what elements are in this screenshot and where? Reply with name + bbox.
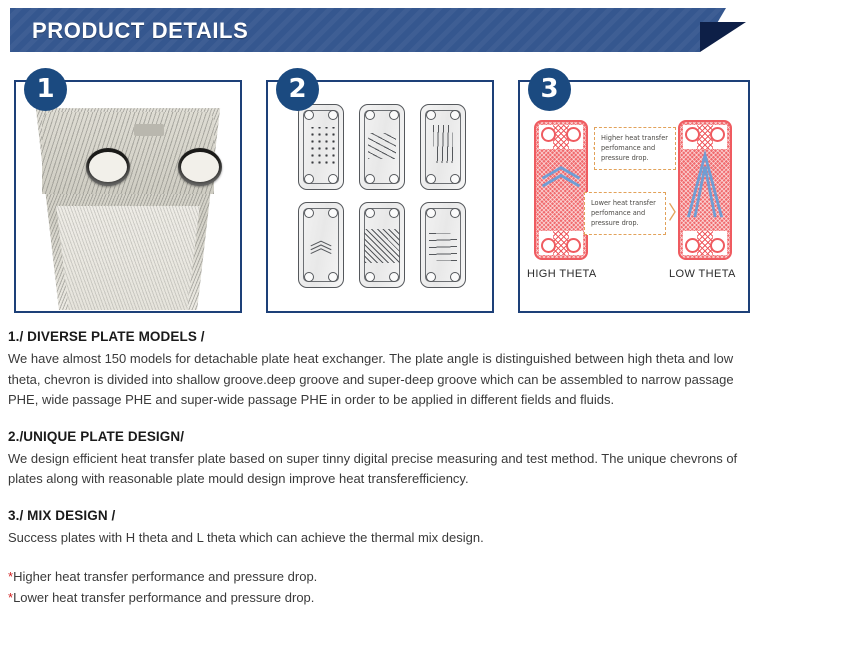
plate-port-right-inner — [181, 152, 219, 182]
page-title: PRODUCT DETAILS — [32, 18, 248, 44]
plate-port-tr — [328, 208, 338, 218]
plate-port-bl — [304, 174, 314, 184]
section-body-3: Success plates with H theta and L theta … — [8, 528, 750, 549]
plate-port-left-inner — [89, 152, 127, 182]
plate-port-tl — [365, 110, 375, 120]
plate-port-tl — [365, 208, 375, 218]
plate-port-tl — [426, 110, 436, 120]
shallow-chevron-icon — [536, 122, 586, 258]
plate-variant-band — [359, 202, 405, 288]
plate-port-left — [86, 148, 130, 186]
panel-badge-2: 2 — [276, 68, 319, 111]
low-theta-plate — [678, 120, 732, 260]
diagonal-groove-pattern — [368, 133, 396, 159]
footnote-text: Higher heat transfer performance and pre… — [13, 569, 317, 584]
panel-plate-photo: 1 — [14, 80, 242, 313]
plate-top-section — [42, 112, 214, 194]
plate-port-br — [328, 174, 338, 184]
label-low-theta: LOW THETA — [669, 268, 736, 280]
plate-notch — [134, 124, 164, 136]
footnote-1: *Higher heat transfer performance and pr… — [8, 566, 840, 587]
plate-port-br — [389, 174, 399, 184]
section-heading-3: 3./ MIX DESIGN / — [8, 508, 840, 523]
plate-pattern-area — [368, 133, 396, 159]
section-body-1: We have almost 150 models for detachable… — [8, 349, 750, 411]
callout-high-theta: Higher heat transfer perfomance and pres… — [594, 127, 676, 170]
plate-port-tr — [328, 110, 338, 120]
steep-chevron-icon — [680, 122, 730, 258]
heat-exchanger-plate-photo — [18, 94, 238, 310]
plate-variant-vertical — [420, 104, 466, 190]
plate-lower-section — [50, 206, 206, 310]
plate-pattern-area — [429, 233, 457, 261]
callout-arrow-right-icon: 〉 — [668, 204, 687, 223]
high-theta-plate — [534, 120, 588, 260]
plate-pattern-area — [433, 125, 453, 163]
plate-port-bl — [426, 174, 436, 184]
page-header-banner: PRODUCT DETAILS — [0, 8, 848, 52]
product-description: 1./ DIVERSE PLATE MODELS / We have almos… — [8, 329, 840, 608]
banner-arrow-tip — [700, 22, 746, 52]
plate-pattern-area — [364, 229, 400, 263]
footnote-2: *Lower heat transfer performance and pre… — [8, 587, 840, 608]
plate-port-bl — [304, 272, 314, 282]
plate-pattern-area — [307, 225, 335, 265]
plate-port-tr — [450, 110, 460, 120]
plate-variant-horizontal — [420, 202, 466, 288]
plate-port-br — [389, 272, 399, 282]
plate-port-br — [328, 272, 338, 282]
plate-port-right — [178, 148, 222, 186]
section-body-2: We design efficient heat transfer plate … — [8, 449, 750, 490]
vertical-groove-pattern — [433, 125, 453, 163]
plate-port-tl — [304, 208, 314, 218]
plate-port-bl — [365, 174, 375, 184]
plate-variant-diagonal — [359, 104, 405, 190]
section-heading-2: 2./UNIQUE PLATE DESIGN/ — [8, 429, 840, 444]
plate-variant-chevron — [298, 202, 344, 288]
plate-port-tl — [304, 110, 314, 120]
panel-badge-1: 1 — [24, 68, 67, 111]
panel-theta-comparison: 3 — [518, 80, 750, 313]
dimple-pattern — [307, 127, 335, 167]
callout-low-theta: Lower heat transfer perfomance and press… — [584, 192, 666, 235]
spacer — [8, 490, 840, 508]
plate-port-bl — [365, 272, 375, 282]
plate-port-tr — [389, 110, 399, 120]
panel-badge-3: 3 — [528, 68, 571, 111]
section-heading-1: 1./ DIVERSE PLATE MODELS / — [8, 329, 840, 344]
plate-variant-grid — [268, 82, 492, 311]
plate-port-tr — [450, 208, 460, 218]
cross-hatch-band-pattern — [364, 229, 400, 263]
chevron-icon — [307, 225, 335, 265]
plate-port-tl — [426, 208, 436, 218]
plate-pattern-area — [307, 127, 335, 167]
spacer — [8, 548, 840, 566]
footnote-text: Lower heat transfer performance and pres… — [13, 590, 314, 605]
spacer — [8, 411, 840, 429]
label-high-theta: HIGH THETA — [527, 268, 597, 280]
plate-port-br — [450, 174, 460, 184]
plate-port-br — [450, 272, 460, 282]
plate-port-bl — [426, 272, 436, 282]
plate-port-tr — [389, 208, 399, 218]
panels-row: 1 2 — [0, 80, 848, 315]
plate-variant-dots — [298, 104, 344, 190]
horizontal-groove-pattern — [429, 233, 457, 261]
panel-plate-variants: 2 — [266, 80, 494, 313]
